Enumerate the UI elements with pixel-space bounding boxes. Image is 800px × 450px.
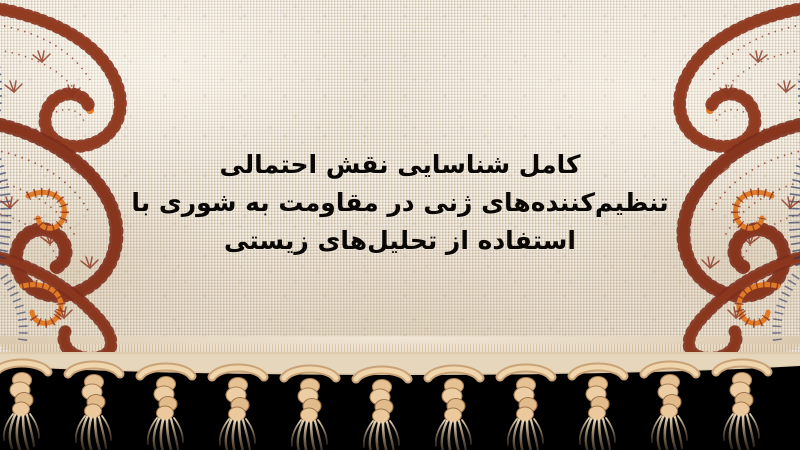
title-line-2: تنظیم‌کننده‌های ژنی در مقاومت به شوری با (0, 184, 800, 222)
title-slide: کامل شناسایی نقش احتمالی تنظیم‌کننده‌های… (0, 0, 800, 450)
title-line-3: استفاده از تحلیل‌های زیستی (0, 222, 800, 260)
title-line-1: کامل شناسایی نقش احتمالی (0, 146, 800, 184)
slide-title: کامل شناسایی نقش احتمالی تنظیم‌کننده‌های… (0, 146, 800, 260)
